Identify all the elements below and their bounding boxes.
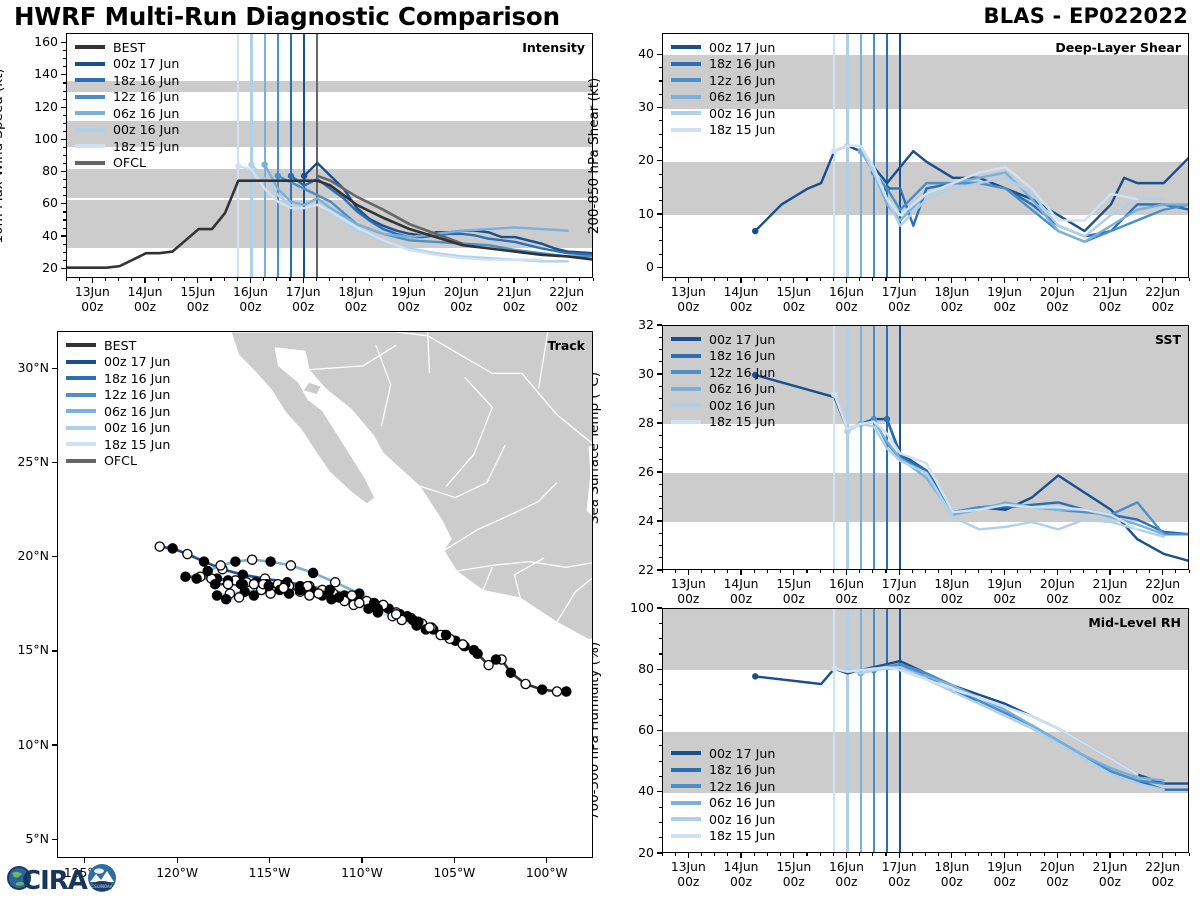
init-marker	[288, 173, 294, 179]
x-tick-mark	[793, 278, 794, 283]
x-tick-label: 13Jun00z	[653, 860, 723, 891]
x-tick-mark	[688, 570, 689, 575]
x-tick-label: 14Jun00z	[706, 860, 776, 891]
x-tick-label: 21Jun00z	[1075, 285, 1145, 316]
x-minor-tick	[780, 570, 781, 573]
track-marker-12z	[248, 555, 257, 564]
track-marker-12z	[235, 593, 244, 602]
y-tick-label: 5°N	[1, 831, 49, 846]
x-minor-tick	[1057, 853, 1058, 856]
x-tick-mark	[566, 278, 567, 283]
init-marker	[248, 161, 254, 167]
x-minor-tick	[885, 853, 886, 856]
x-tick-mark	[951, 278, 952, 283]
track-marker-12z	[216, 561, 225, 570]
x-minor-tick	[1189, 853, 1190, 856]
track-marker-12z	[392, 610, 401, 619]
x-tick-mark	[1109, 278, 1110, 283]
x-minor-tick	[1175, 278, 1176, 281]
x-minor-tick	[754, 570, 755, 573]
x-tick-label: 19Jun00z	[970, 285, 1040, 316]
x-minor-tick	[912, 570, 913, 573]
x-minor-tick	[92, 278, 93, 281]
x-minor-tick	[727, 570, 728, 573]
y-tick-label: 80	[8, 163, 58, 178]
x-tick-mark	[546, 858, 547, 863]
init-marker	[884, 416, 890, 422]
x-minor-tick	[991, 853, 992, 856]
x-minor-tick	[1004, 278, 1005, 281]
x-minor-tick	[1136, 278, 1137, 281]
x-tick-mark	[1004, 278, 1005, 283]
x-tick-label: 13Jun00z	[57, 285, 127, 316]
track-marker-00z	[249, 591, 258, 600]
y-tick-label: 0	[604, 259, 654, 274]
x-minor-tick	[79, 278, 80, 281]
x-tick-mark	[144, 278, 145, 283]
x-minor-tick	[1149, 570, 1150, 573]
track-marker-12z	[347, 591, 356, 600]
y-tick-label: 60	[604, 722, 654, 737]
x-minor-tick	[701, 278, 702, 281]
series-line	[834, 146, 1137, 221]
track-marker-12z	[155, 542, 164, 551]
x-minor-tick	[912, 853, 913, 856]
init-marker	[752, 228, 758, 234]
x-tick-mark	[1109, 570, 1110, 575]
x-minor-tick	[741, 570, 742, 573]
track-marker-00z	[192, 574, 201, 583]
x-tick-mark	[899, 278, 900, 283]
x-tick-label: 22Jun00z	[1128, 285, 1198, 316]
page-title: HWRF Multi-Run Diagnostic Comparison	[14, 2, 560, 31]
x-minor-tick	[741, 853, 742, 856]
x-minor-tick	[408, 278, 409, 281]
cira-logo: CIRA CSU/NOAA	[6, 858, 118, 898]
map-and-tracks	[58, 332, 593, 858]
x-minor-tick	[912, 278, 913, 281]
y-tick-label: 32	[604, 317, 654, 332]
x-tick-mark	[1057, 278, 1058, 283]
y-tick-label: 24	[604, 513, 654, 528]
track-marker-00z	[203, 566, 212, 575]
x-minor-tick	[727, 853, 728, 856]
series-group-intensity	[67, 34, 593, 278]
x-tick-mark	[793, 570, 794, 575]
x-minor-tick	[1083, 570, 1084, 573]
x-minor-tick	[872, 853, 873, 856]
x-tick-label: 22Jun00z	[1128, 860, 1198, 891]
init-marker	[261, 161, 267, 167]
x-minor-tick	[105, 278, 106, 281]
y-tick-label: 40	[604, 46, 654, 61]
x-tick-label: 19Jun00z	[374, 285, 444, 316]
series-line	[67, 181, 593, 268]
x-minor-tick	[1083, 853, 1084, 856]
x-minor-tick	[938, 853, 939, 856]
y-tick-label: 100	[604, 600, 654, 615]
storm-identifier: BLAS - EP022022	[983, 4, 1188, 28]
x-tick-label: 21Jun00z	[1075, 577, 1145, 608]
x-tick-label: 15Jun00z	[759, 285, 829, 316]
x-tick-mark	[1162, 570, 1163, 575]
track-marker-12z	[458, 640, 467, 649]
y-tick-label: 60	[8, 195, 58, 210]
track-marker-00z	[442, 630, 451, 639]
x-tick-label: 18Jun00z	[321, 285, 391, 316]
x-minor-tick	[1109, 853, 1110, 856]
series-line	[887, 419, 1189, 534]
x-minor-tick	[688, 570, 689, 573]
x-minor-tick	[421, 278, 422, 281]
x-minor-tick	[701, 570, 702, 573]
track-marker-00z	[473, 649, 482, 658]
x-minor-tick	[171, 278, 172, 281]
x-tick-mark	[1004, 853, 1005, 858]
x-tick-mark	[355, 278, 356, 283]
x-minor-tick	[978, 278, 979, 281]
series-group-rh	[663, 609, 1189, 853]
x-minor-tick	[991, 278, 992, 281]
x-tick-mark	[250, 278, 251, 283]
track-marker-12z	[552, 687, 561, 696]
track-marker-00z	[334, 593, 343, 602]
track-marker-00z	[231, 557, 240, 566]
series-line	[251, 165, 567, 262]
x-minor-tick	[487, 278, 488, 281]
x-minor-tick	[474, 278, 475, 281]
series-line	[755, 661, 1189, 784]
x-minor-tick	[846, 853, 847, 856]
x-minor-tick	[806, 570, 807, 573]
x-minor-tick	[1175, 853, 1176, 856]
x-tick-mark	[846, 570, 847, 575]
x-minor-tick	[951, 278, 952, 281]
x-minor-tick	[899, 278, 900, 281]
x-minor-tick	[1149, 853, 1150, 856]
y-tick-label: 22	[604, 562, 654, 577]
y-tick-label: 20	[604, 152, 654, 167]
x-tick-mark	[899, 853, 900, 858]
y-tick-label: 30	[604, 99, 654, 114]
init-marker	[752, 372, 758, 378]
x-minor-tick	[566, 278, 567, 281]
x-minor-tick	[131, 278, 132, 281]
x-minor-tick	[965, 278, 966, 281]
x-tick-mark	[269, 858, 270, 863]
track-marker-00z	[266, 557, 275, 566]
x-minor-tick	[833, 570, 834, 573]
x-minor-tick	[527, 278, 528, 281]
x-minor-tick	[1044, 853, 1045, 856]
x-tick-label: 17Jun00z	[864, 577, 934, 608]
track-marker-00z	[296, 585, 305, 594]
x-minor-tick	[1017, 278, 1018, 281]
x-minor-tick	[978, 570, 979, 573]
x-tick-mark	[303, 278, 304, 283]
x-minor-tick	[1175, 570, 1176, 573]
track-marker-00z	[309, 568, 318, 577]
track-marker-00z	[212, 591, 221, 600]
x-minor-tick	[1136, 853, 1137, 856]
x-tick-label: 13Jun00z	[653, 285, 723, 316]
landmass-island	[304, 383, 321, 394]
x-tick-label: 18Jun00z	[917, 577, 987, 608]
x-minor-tick	[184, 278, 185, 281]
x-tick-label: 115°W	[235, 866, 305, 881]
x-minor-tick	[714, 278, 715, 281]
x-tick-mark	[177, 858, 178, 863]
svg-text:CSU/NOAA: CSU/NOAA	[91, 884, 113, 889]
track-marker-12z	[305, 591, 314, 600]
x-minor-tick	[197, 278, 198, 281]
x-tick-label: 105°W	[419, 866, 489, 881]
map-border	[308, 400, 327, 402]
x-minor-tick	[1162, 570, 1163, 573]
x-minor-tick	[237, 278, 238, 281]
x-tick-mark	[461, 278, 462, 283]
init-marker	[831, 148, 837, 154]
track-marker-00z	[538, 685, 547, 694]
x-minor-tick	[1162, 853, 1163, 856]
x-minor-tick	[1189, 570, 1190, 573]
track-marker-00z	[236, 580, 245, 589]
x-tick-label: 17Jun00z	[268, 285, 338, 316]
y-tick-label: 40	[8, 228, 58, 243]
track-marker-12z	[249, 580, 258, 589]
y-tick-label: 40	[604, 783, 654, 798]
x-minor-tick	[899, 853, 900, 856]
x-minor-tick	[1030, 853, 1031, 856]
y-tick-label: 20	[604, 845, 654, 860]
x-minor-tick	[1189, 278, 1190, 281]
x-minor-tick	[500, 278, 501, 281]
x-minor-tick	[662, 570, 663, 573]
x-tick-label: 15Jun00z	[759, 577, 829, 608]
x-minor-tick	[885, 570, 886, 573]
x-minor-tick	[754, 853, 755, 856]
x-tick-label: 16Jun00z	[215, 285, 285, 316]
x-tick-label: 18Jun00z	[917, 285, 987, 316]
x-minor-tick	[780, 853, 781, 856]
x-tick-mark	[513, 278, 514, 283]
x-tick-label: 18Jun00z	[917, 860, 987, 891]
x-minor-tick	[263, 278, 264, 281]
x-minor-tick	[1030, 278, 1031, 281]
x-minor-tick	[820, 853, 821, 856]
x-minor-tick	[342, 278, 343, 281]
x-tick-label: 13Jun00z	[653, 577, 723, 608]
x-tick-label: 20Jun00z	[1022, 860, 1092, 891]
x-tick-mark	[899, 570, 900, 575]
init-marker	[235, 163, 241, 169]
x-tick-mark	[740, 570, 741, 575]
x-tick-label: 120°W	[142, 866, 212, 881]
x-minor-tick	[1057, 570, 1058, 573]
y-axis-label-intensity: 10m Max Wind Speed (kt)	[0, 68, 6, 243]
x-minor-tick	[158, 278, 159, 281]
svg-text:CIRA: CIRA	[22, 866, 88, 896]
plot-area-shear	[662, 33, 1189, 278]
x-minor-tick	[369, 278, 370, 281]
x-minor-tick	[965, 853, 966, 856]
x-tick-mark	[951, 570, 952, 575]
x-tick-mark	[1162, 853, 1163, 858]
x-tick-label: 16Jun00z	[811, 577, 881, 608]
x-minor-tick	[925, 278, 926, 281]
y-tick-label: 80	[604, 661, 654, 676]
init-marker	[301, 173, 307, 179]
y-tick-label: 10°N	[1, 737, 49, 752]
x-minor-tick	[1070, 278, 1071, 281]
series-group-sst	[663, 326, 1189, 570]
x-minor-tick	[754, 278, 755, 281]
x-minor-tick	[1030, 570, 1031, 573]
x-tick-label: 19Jun00z	[970, 860, 1040, 891]
x-minor-tick	[145, 278, 146, 281]
x-minor-tick	[767, 853, 768, 856]
x-minor-tick	[513, 278, 514, 281]
y-tick-label: 30°N	[1, 360, 49, 375]
x-tick-mark	[1109, 853, 1110, 858]
x-minor-tick	[1123, 278, 1124, 281]
x-minor-tick	[1044, 278, 1045, 281]
x-tick-label: 14Jun00z	[706, 577, 776, 608]
x-minor-tick	[899, 570, 900, 573]
x-minor-tick	[1096, 278, 1097, 281]
x-tick-mark	[740, 853, 741, 858]
x-tick-mark	[688, 853, 689, 858]
x-minor-tick	[662, 853, 663, 856]
y-tick-label: 30	[604, 366, 654, 381]
x-minor-tick	[675, 278, 676, 281]
x-tick-label: 14Jun00z	[110, 285, 180, 316]
x-tick-label: 17Jun00z	[864, 285, 934, 316]
x-tick-label: 110°W	[327, 866, 397, 881]
y-tick-label: 25°N	[1, 454, 49, 469]
x-minor-tick	[355, 278, 356, 281]
x-minor-tick	[448, 278, 449, 281]
x-tick-mark	[454, 858, 455, 863]
y-tick-label: 160	[8, 34, 58, 49]
x-tick-label: 15Jun00z	[163, 285, 233, 316]
x-minor-tick	[1096, 853, 1097, 856]
y-tick-label: 140	[8, 66, 58, 81]
x-minor-tick	[675, 853, 676, 856]
x-minor-tick	[925, 570, 926, 573]
x-minor-tick	[793, 570, 794, 573]
x-minor-tick	[833, 853, 834, 856]
track-marker-00z	[325, 585, 334, 594]
y-tick-label: 20	[8, 260, 58, 275]
x-tick-label: 16Jun00z	[811, 285, 881, 316]
x-minor-tick	[833, 278, 834, 281]
x-minor-tick	[303, 278, 304, 281]
x-minor-tick	[767, 278, 768, 281]
track-marker-00z	[168, 544, 177, 553]
init-marker	[275, 173, 281, 179]
x-minor-tick	[1162, 278, 1163, 281]
x-minor-tick	[688, 853, 689, 856]
x-minor-tick	[688, 278, 689, 281]
x-minor-tick	[859, 570, 860, 573]
x-tick-label: 22Jun00z	[1128, 577, 1198, 608]
x-tick-label: 21Jun00z	[479, 285, 549, 316]
x-minor-tick	[1070, 570, 1071, 573]
x-tick-mark	[1162, 278, 1163, 283]
x-minor-tick	[938, 570, 939, 573]
x-minor-tick	[1044, 570, 1045, 573]
x-minor-tick	[276, 278, 277, 281]
x-tick-mark	[408, 278, 409, 283]
track-marker-00z	[373, 604, 382, 613]
track-marker-12z	[183, 550, 192, 559]
x-tick-label: 17Jun00z	[864, 860, 934, 891]
x-minor-tick	[1083, 278, 1084, 281]
track-marker-00z	[264, 582, 273, 591]
x-minor-tick	[118, 278, 119, 281]
x-tick-label: 15Jun00z	[759, 860, 829, 891]
x-tick-mark	[846, 278, 847, 283]
track-marker-00z	[408, 615, 417, 624]
x-tick-mark	[197, 278, 198, 283]
x-minor-tick	[727, 278, 728, 281]
track-marker-12z	[484, 661, 493, 670]
series-group-shear	[663, 34, 1189, 278]
x-minor-tick	[540, 278, 541, 281]
x-minor-tick	[1070, 853, 1071, 856]
x-minor-tick	[780, 278, 781, 281]
x-tick-label: 16Jun00z	[811, 860, 881, 891]
plot-area-intensity	[66, 33, 593, 278]
x-tick-mark	[793, 853, 794, 858]
y-tick-label: 10	[604, 206, 654, 221]
x-minor-tick	[991, 570, 992, 573]
track-marker-00z	[506, 668, 515, 677]
x-minor-tick	[859, 278, 860, 281]
series-line	[755, 375, 1189, 561]
x-tick-mark	[951, 853, 952, 858]
x-minor-tick	[579, 278, 580, 281]
x-minor-tick	[553, 278, 554, 281]
x-minor-tick	[714, 853, 715, 856]
track-marker-00z	[199, 557, 208, 566]
x-tick-label: 20Jun00z	[1022, 577, 1092, 608]
x-minor-tick	[925, 853, 926, 856]
x-tick-mark	[688, 278, 689, 283]
track-marker-12z	[314, 589, 323, 598]
x-minor-tick	[872, 570, 873, 573]
x-minor-tick	[1004, 570, 1005, 573]
x-minor-tick	[1123, 570, 1124, 573]
x-minor-tick	[978, 853, 979, 856]
plot-area-track	[57, 331, 593, 858]
x-minor-tick	[806, 278, 807, 281]
series-line	[874, 419, 1189, 534]
track-marker-12z	[223, 580, 232, 589]
x-minor-tick	[316, 278, 317, 281]
x-minor-tick	[210, 278, 211, 281]
x-minor-tick	[250, 278, 251, 281]
x-minor-tick	[1096, 570, 1097, 573]
x-tick-mark	[1004, 570, 1005, 575]
init-marker	[752, 673, 758, 679]
x-tick-mark	[740, 278, 741, 283]
track-marker-00z	[222, 595, 231, 604]
y-tick-label: 20°N	[1, 548, 49, 563]
x-minor-tick	[820, 278, 821, 281]
x-tick-mark	[361, 858, 362, 863]
